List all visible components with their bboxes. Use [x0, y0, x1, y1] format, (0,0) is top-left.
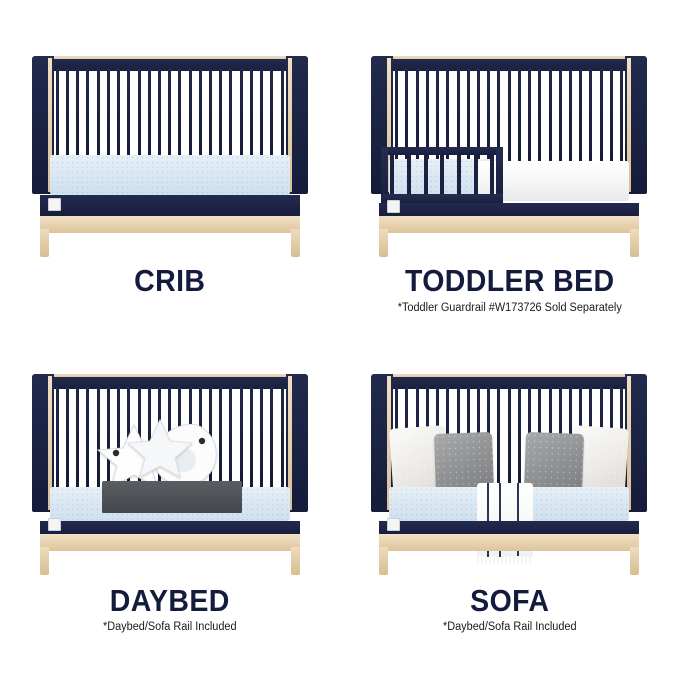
slat [56, 386, 59, 494]
slat [518, 68, 521, 176]
guardrail-top-rail [381, 147, 503, 155]
guardrail-slat [424, 155, 428, 194]
front-base-rail [379, 203, 639, 217]
toddler-bed-illustration [359, 42, 659, 257]
slat [497, 386, 500, 494]
crib-illustration [20, 42, 320, 257]
sofa-rail [379, 521, 639, 535]
gray-throw [102, 481, 242, 513]
slat [620, 68, 623, 176]
slat [610, 68, 613, 176]
panel-title: TODDLER BED [353, 265, 665, 298]
panel-title: CRIB [14, 265, 326, 298]
leg-right [291, 547, 300, 575]
wood-base-band [379, 216, 639, 233]
mattress [50, 155, 290, 195]
daybed-rail [40, 521, 300, 535]
slat [518, 386, 521, 494]
slat [270, 386, 273, 494]
caption-sofa: SOFA *Daybed/Sofa Rail Included [340, 585, 679, 634]
slat [260, 386, 263, 494]
toddler-guardrail [381, 147, 503, 205]
panel-daybed: DAYBED *Daybed/Sofa Rail Included [0, 340, 340, 679]
leg-right [630, 229, 639, 257]
gray-pillow-right [524, 432, 584, 494]
panel-subtitle: *Toddler Guardrail #W173726 Sold Separat… [348, 302, 671, 314]
caption-crib: CRIB [0, 265, 340, 302]
guardrail-slat [440, 155, 444, 194]
slat [549, 68, 552, 176]
wood-base-band [379, 534, 639, 551]
slat [508, 386, 511, 494]
guardrail-slat [490, 155, 494, 194]
slat [528, 68, 531, 176]
panel-crib: CRIB [0, 0, 340, 340]
slat [240, 386, 243, 494]
slat [559, 68, 562, 176]
wood-base-band [40, 216, 300, 233]
slat [76, 386, 79, 494]
panel-toddler-bed: TODDLER BED *Toddler Guardrail #W173726 … [340, 0, 679, 340]
guardrail-slat [474, 155, 478, 194]
slat [66, 386, 69, 494]
brand-tag [387, 518, 400, 531]
convertible-crib-configurations: CRIB [0, 0, 679, 679]
sofa-illustration [359, 360, 659, 575]
wood-base-band [40, 534, 300, 551]
leg-left [40, 229, 49, 257]
slat [569, 68, 572, 176]
leg-left [379, 229, 388, 257]
panel-title: SOFA [353, 585, 665, 618]
slat [600, 68, 603, 176]
panel-subtitle: *Daybed/Sofa Rail Included [8, 621, 331, 633]
caption-daybed: DAYBED *Daybed/Sofa Rail Included [0, 585, 340, 634]
brand-tag [387, 200, 400, 213]
slat [538, 68, 541, 176]
guardrail-slats [390, 155, 494, 194]
slat [281, 386, 284, 494]
leg-right [291, 229, 300, 257]
front-rail [40, 195, 300, 217]
guardrail-slat [390, 155, 394, 194]
brand-tag [48, 198, 61, 211]
star-pillow-back [124, 419, 196, 479]
slat [579, 68, 582, 176]
panel-title: DAYBED [14, 585, 326, 618]
slat [250, 386, 253, 494]
slat [86, 386, 89, 494]
daybed-illustration [20, 360, 320, 575]
leg-left [379, 547, 388, 575]
slat [589, 68, 592, 176]
leg-left [40, 547, 49, 575]
slat [229, 386, 232, 494]
panel-subtitle: *Daybed/Sofa Rail Included [348, 621, 671, 633]
leg-right [630, 547, 639, 575]
panel-sofa: SOFA *Daybed/Sofa Rail Included [340, 340, 679, 679]
guardrail-slat [457, 155, 461, 194]
caption-toddler-bed: TODDLER BED *Toddler Guardrail #W173726 … [340, 265, 679, 314]
brand-tag [48, 518, 61, 531]
guardrail-slat [407, 155, 411, 194]
slat [508, 68, 511, 176]
